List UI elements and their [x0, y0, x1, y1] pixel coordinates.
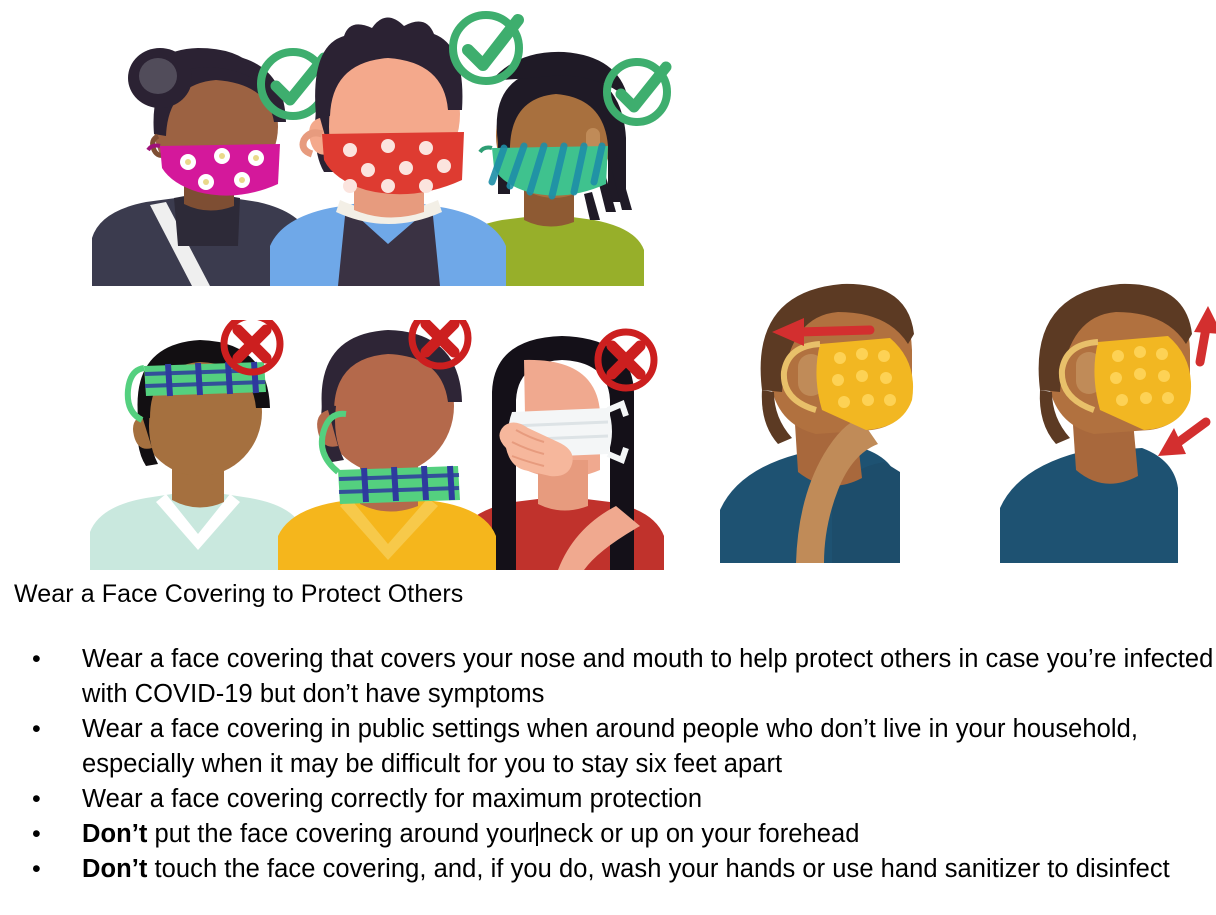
list-item-lead: Don’t: [82, 855, 147, 883]
illustration-band: [0, 0, 1216, 570]
figure-mask-on-forehead: [90, 320, 304, 570]
list-item-text: Wear a face covering in public settings …: [82, 715, 1138, 778]
bullet-marker: •: [32, 642, 46, 677]
list-item-text: Wear a face covering that covers your no…: [82, 645, 1213, 708]
list-item-lead: Don’t: [82, 820, 147, 848]
illustration-remove-mask-by-ear-loops: [712, 258, 952, 563]
page-title: Wear a Face Covering to Protect Others: [14, 578, 463, 610]
list-item-text: Wear a face covering correctly for maxim…: [82, 785, 702, 813]
list-item: • Wear a face covering that covers your …: [0, 642, 1216, 712]
list-item: • Don’t put the face covering around you…: [0, 817, 1216, 852]
list-item: • Don’t touch the face covering, and, if…: [0, 852, 1216, 887]
illustration-correct-mask-group: [88, 6, 688, 286]
document-text-block: Wear a Face Covering to Protect Others •…: [0, 570, 1216, 915]
list-item-text: touch the face covering, and, if you do,…: [147, 855, 1169, 883]
red-arrow-down-icon: [1158, 422, 1206, 456]
list-item-text-before-caret: put the face covering around your: [147, 820, 536, 848]
text-cursor: [536, 822, 538, 846]
bullet-marker: •: [32, 817, 46, 852]
green-check-icon: [607, 62, 667, 122]
bullet-marker: •: [32, 852, 46, 887]
green-check-icon: [453, 15, 519, 81]
bullet-marker: •: [32, 712, 46, 747]
guidance-bullet-list: • Wear a face covering that covers your …: [0, 642, 1216, 887]
list-item: • Wear a face covering correctly for max…: [0, 782, 1216, 817]
illustration-incorrect-mask-group: [88, 320, 688, 570]
illustration-mask-fit-arrows: [992, 258, 1216, 563]
figure-mask-around-neck: [278, 320, 496, 570]
list-item: • Wear a face covering in public setting…: [0, 712, 1216, 782]
red-arrow-up-icon: [1194, 306, 1216, 362]
list-item-text-after-caret: neck or up on your forehead: [539, 820, 859, 848]
bullet-marker: •: [32, 782, 46, 817]
